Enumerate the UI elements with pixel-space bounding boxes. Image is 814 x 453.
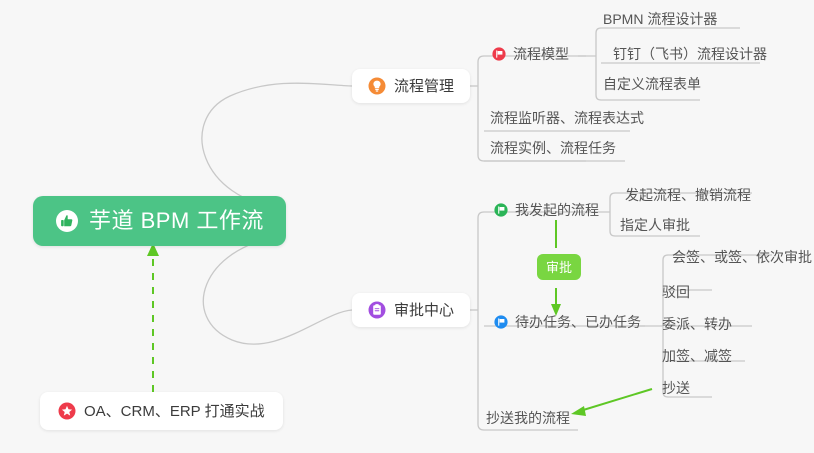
flag-blue-icon — [494, 315, 508, 329]
node-my-initiated-process[interactable]: 我发起的流程 — [494, 203, 599, 217]
node-dingtalk-feishu-designer[interactable]: 钉钉（飞书）流程设计器 — [613, 47, 767, 61]
node-label: 委派、转办 — [662, 317, 732, 331]
thumbs-up-icon — [55, 209, 79, 233]
node-process-instance-task[interactable]: 流程实例、流程任务 — [490, 141, 616, 155]
badge-label: 审批 — [546, 261, 572, 274]
node-countersign-orsign-sequential[interactable]: 会签、或签、依次审批 — [672, 250, 812, 264]
branch-process-management[interactable]: 流程管理 — [352, 69, 470, 103]
node-custom-process-form[interactable]: 自定义流程表单 — [603, 77, 701, 91]
node-cc-to-me-process[interactable]: 抄送我的流程 — [486, 411, 570, 425]
footnote-label: OA、CRM、ERP 打通实战 — [84, 404, 265, 419]
node-label: 钉钉（飞书）流程设计器 — [613, 47, 767, 61]
mindmap-canvas: 芋道 BPM 工作流 流程管理 流程模型 BPMN 流程设计器 钉钉（飞书 — [0, 0, 814, 453]
node-reject[interactable]: 驳回 — [662, 285, 690, 299]
flag-red-icon — [492, 47, 506, 61]
node-label: 抄送我的流程 — [486, 411, 570, 425]
branch-label: 流程管理 — [394, 79, 454, 94]
node-label: 我发起的流程 — [515, 203, 599, 217]
node-assignee-approval[interactable]: 指定人审批 — [620, 218, 690, 232]
node-carbon-copy[interactable]: 抄送 — [662, 381, 690, 395]
node-label: 驳回 — [662, 285, 690, 299]
flag-green-icon — [494, 203, 508, 217]
node-label: 流程监听器、流程表达式 — [490, 111, 644, 125]
node-label: 抄送 — [662, 381, 690, 395]
node-label: 待办任务、已办任务 — [515, 315, 641, 329]
branch-approval-center[interactable]: 审批中心 — [352, 293, 470, 327]
node-label: 流程模型 — [513, 47, 569, 61]
node-bpmn-designer[interactable]: BPMN 流程设计器 — [603, 12, 717, 26]
node-process-listener-expression[interactable]: 流程监听器、流程表达式 — [490, 111, 644, 125]
node-label: 自定义流程表单 — [603, 77, 701, 91]
node-label: BPMN 流程设计器 — [603, 12, 717, 26]
root-label: 芋道 BPM 工作流 — [89, 210, 264, 232]
node-process-model[interactable]: 流程模型 — [492, 47, 569, 61]
node-add-remove-sign[interactable]: 加签、减签 — [662, 349, 732, 363]
clipboard-purple-icon — [368, 301, 386, 319]
footnote-integration-note[interactable]: OA、CRM、ERP 打通实战 — [40, 392, 283, 430]
node-label: 加签、减签 — [662, 349, 732, 363]
node-label: 流程实例、流程任务 — [490, 141, 616, 155]
root-node[interactable]: 芋道 BPM 工作流 — [33, 196, 286, 246]
carbon-copy-arrowhead — [571, 406, 586, 416]
approval-badge[interactable]: 审批 — [537, 254, 581, 280]
branch-label: 审批中心 — [394, 303, 454, 318]
node-label: 发起流程、撤销流程 — [625, 188, 751, 202]
node-start-cancel-process[interactable]: 发起流程、撤销流程 — [625, 188, 751, 202]
node-label: 指定人审批 — [620, 218, 690, 232]
lightbulb-icon — [368, 77, 386, 95]
star-red-icon — [58, 402, 76, 420]
node-todo-done-tasks[interactable]: 待办任务、已办任务 — [494, 315, 641, 329]
node-delegate-transfer[interactable]: 委派、转办 — [662, 317, 732, 331]
node-label: 会签、或签、依次审批 — [672, 250, 812, 264]
